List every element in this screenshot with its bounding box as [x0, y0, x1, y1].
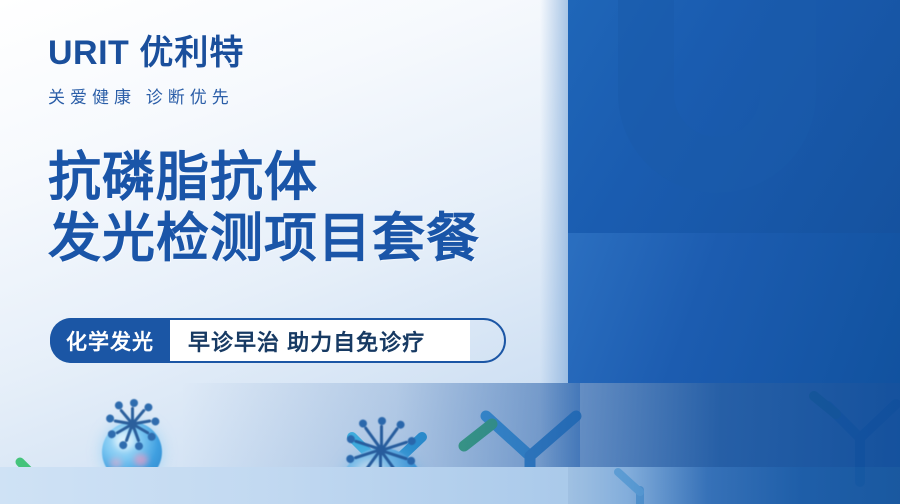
badge-text-label: 早诊早治 助力自免诊疗	[170, 320, 470, 361]
logo-wordmark-cn: 优利特	[139, 34, 244, 72]
blue-panel-middle	[568, 233, 900, 383]
antibody-icon	[606, 468, 676, 504]
logo-wordmark-latin: URIT	[48, 34, 129, 72]
headline-line-2: 发光检测项目套餐	[48, 208, 480, 269]
page-title: 抗磷脂抗体 发光检测项目套餐	[48, 147, 480, 270]
logo-tagline: 关爱健康 诊断优先	[48, 83, 244, 108]
bottom-light-strip	[0, 467, 580, 504]
brand-logo: URIT优利特 关爱健康 诊断优先	[48, 36, 244, 108]
headline-line-1: 抗磷脂抗体	[48, 147, 480, 208]
badge-rounded-cap	[470, 318, 506, 363]
promo-banner: URIT优利特 关爱健康 诊断优先 抗磷脂抗体 发光检测项目套餐 化学发光 早诊…	[0, 0, 900, 504]
watermark-u-icon	[600, 0, 835, 244]
status-badge: 化学发光 早诊早治 助力自免诊疗	[50, 318, 506, 363]
badge-tag-label: 化学发光	[50, 318, 170, 363]
logo-wordmark: URIT优利特	[48, 36, 244, 70]
